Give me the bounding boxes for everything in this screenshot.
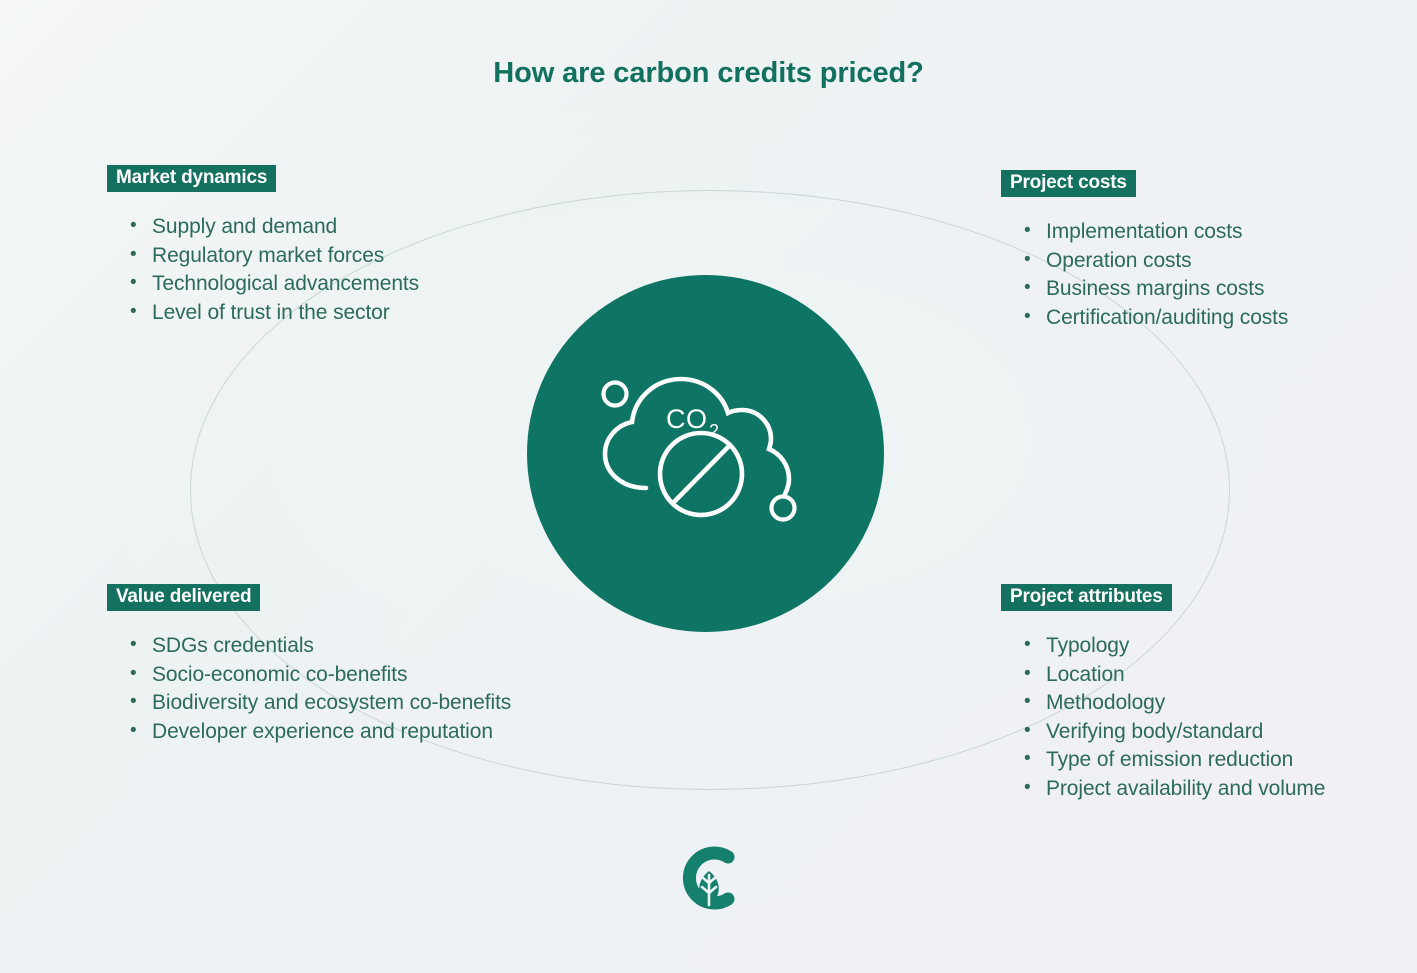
- list-item: Technological advancements: [125, 270, 527, 298]
- list-item: Socio-economic co-benefits: [125, 661, 527, 689]
- list-item: Business margins costs: [1019, 275, 1411, 303]
- quadrant-label-value-delivered: Value delivered: [107, 584, 260, 611]
- list-item: Biodiversity and ecosystem co-benefits: [125, 689, 527, 717]
- co2-label: CO: [666, 404, 708, 434]
- center-circle: CO 2: [527, 275, 884, 632]
- quadrant-label-project-attributes: Project attributes: [1001, 584, 1172, 611]
- quadrant-list-project-attributes: Typology Location Methodology Verifying …: [1019, 632, 1416, 802]
- quadrant-list-market-dynamics: Supply and demand Regulatory market forc…: [125, 213, 527, 326]
- list-item: Supply and demand: [125, 213, 527, 241]
- list-item: Project availability and volume: [1019, 775, 1416, 803]
- quadrant-value-delivered: Value delivered SDGs credentials Socio-e…: [107, 584, 527, 746]
- quadrant-project-attributes: Project attributes Typology Location Met…: [1001, 584, 1416, 803]
- quadrant-list-value-delivered: SDGs credentials Socio-economic co-benef…: [125, 632, 527, 745]
- list-item: Level of trust in the sector: [125, 299, 527, 327]
- list-item: Implementation costs: [1019, 218, 1411, 246]
- list-item: Developer experience and reputation: [125, 718, 527, 746]
- list-item: Certification/auditing costs: [1019, 304, 1411, 332]
- list-item: Methodology: [1019, 689, 1416, 717]
- infographic-canvas: How are carbon credits priced? Market dy…: [0, 0, 1417, 973]
- quadrant-market-dynamics: Market dynamics Supply and demand Regula…: [107, 165, 527, 327]
- list-item: SDGs credentials: [125, 632, 527, 660]
- small-bubble-bottom-icon: [771, 497, 794, 520]
- list-item: Location: [1019, 661, 1416, 689]
- quadrant-list-project-costs: Implementation costs Operation costs Bus…: [1019, 218, 1411, 331]
- list-item: Regulatory market forces: [125, 242, 527, 270]
- quadrant-label-market-dynamics: Market dynamics: [107, 165, 276, 192]
- quadrant-label-project-costs: Project costs: [1001, 170, 1136, 197]
- list-item: Operation costs: [1019, 247, 1411, 275]
- co2-cloud-reduction-icon: CO 2: [591, 366, 821, 541]
- quadrant-project-costs: Project costs Implementation costs Opera…: [1001, 170, 1411, 332]
- list-item: Type of emission reduction: [1019, 746, 1416, 774]
- small-bubble-top-icon: [603, 383, 626, 406]
- c-leaf-logo: [672, 841, 746, 915]
- list-item: Verifying body/standard: [1019, 718, 1416, 746]
- page-title: How are carbon credits priced?: [0, 57, 1417, 90]
- list-item: Typology: [1019, 632, 1416, 660]
